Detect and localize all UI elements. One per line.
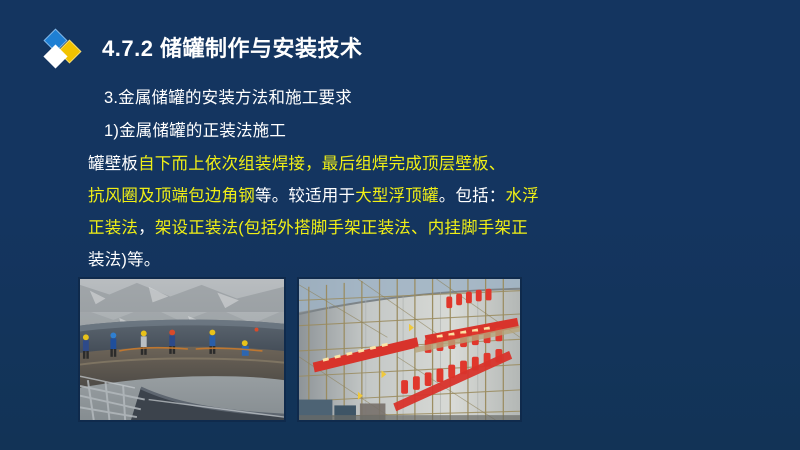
text-segment-4: 。包括： (439, 187, 506, 205)
text-segment-1: 装法)等。 (88, 251, 161, 269)
tank-wall-assembly-illustration (80, 279, 284, 420)
text-segment-5: 水浮 (506, 187, 539, 205)
slide-title: 4.7.2 储罐制作与安装技术 (102, 38, 363, 60)
paragraph-line-1: 罐壁板自下而上依次组装焊接，最后组焊完成顶层壁板、 (88, 148, 588, 180)
slide-canvas: 4.7.2 储罐制作与安装技术 3.金属储罐的安装方法和施工要求 1)金属储罐的… (0, 0, 800, 450)
body-heading-2: 1)金属储罐的正装法施工 (88, 115, 588, 148)
text-segment-2: 等。较适用于 (255, 187, 355, 205)
body-heading-1: 3.金属储罐的安装方法和施工要求 (88, 82, 588, 115)
scaffold-erection-photo (297, 277, 522, 422)
paragraph-line-3: 正装法，架设正装法(包括外搭脚手架正装法、内挂脚手架正 (88, 212, 588, 244)
three-diamonds-logo-icon (44, 27, 90, 71)
text-segment-3: 架设正装法(包括外搭脚手架正装法、内挂脚手架正 (155, 219, 528, 237)
slide-body: 3.金属储罐的安装方法和施工要求 1)金属储罐的正装法施工 罐壁板自下而上依次组… (88, 82, 588, 276)
text-segment-3: 大型浮顶罐 (355, 187, 439, 205)
scaffold-erection-illustration (299, 279, 520, 420)
paragraph-line-4: 装法)等。 (88, 244, 588, 276)
text-segment-1: 罐壁板 (88, 155, 138, 173)
text-segment-1: 抗风圈及顶端包边角钢 (88, 187, 255, 205)
text-segment-2: ， (138, 219, 155, 237)
paragraph-line-2: 抗风圈及顶端包边角钢等。较适用于大型浮顶罐。包括：水浮 (88, 180, 588, 212)
tank-wall-assembly-photo (78, 277, 286, 422)
text-segment-2: 自下而上依次组装焊接，最后组焊完成顶层壁板、 (138, 155, 505, 173)
text-segment-1: 正装法 (88, 219, 138, 237)
slide-title-bar: 4.7.2 储罐制作与安装技术 (44, 26, 363, 72)
